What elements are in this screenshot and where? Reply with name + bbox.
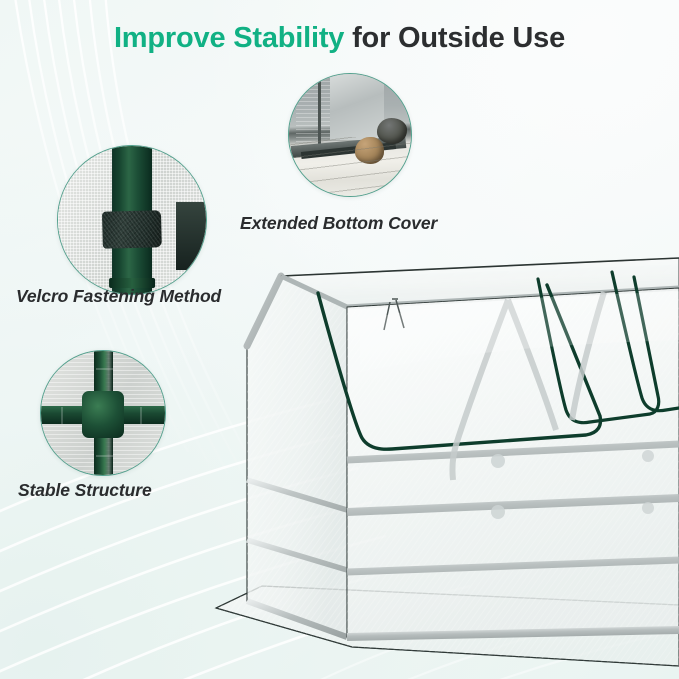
arm-seam-top <box>96 368 113 370</box>
page-title: Improve Stability for Outside Use <box>0 22 679 55</box>
title-rest: for Outside Use <box>344 22 565 54</box>
bottom-cover-photo-circle <box>288 73 412 197</box>
arm-seam-left <box>61 407 63 424</box>
callout-bottom-cover-label: Extended Bottom Cover <box>240 213 437 234</box>
title-highlight: Improve Stability <box>114 22 344 54</box>
arm-seam-bottom <box>96 455 113 457</box>
velcro-strap-tail <box>176 202 207 270</box>
greenhouse-left-gable <box>247 274 347 637</box>
connector-photo-circle <box>40 350 166 476</box>
callout-stable-structure-label: Stable Structure <box>18 480 152 501</box>
arm-seam-right <box>140 407 142 424</box>
connector-hub <box>82 391 124 438</box>
callout-velcro-label: Velcro Fastening Method <box>16 286 221 307</box>
deck-planks <box>289 137 411 196</box>
velcro-photo-circle <box>57 145 207 295</box>
velcro-strap <box>102 210 162 249</box>
infographic-canvas: Improve Stability for Outside Use <box>0 0 679 679</box>
